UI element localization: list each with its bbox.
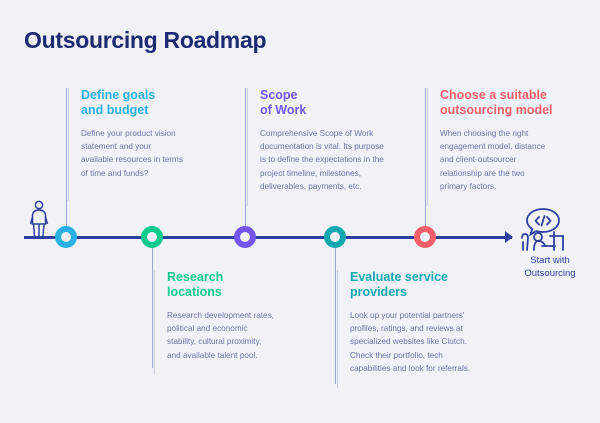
milestone-node-1[interactable] xyxy=(55,226,77,248)
milestone-node-3[interactable] xyxy=(234,226,256,248)
milestone-title-2: Research locations xyxy=(167,270,316,300)
timeline-axis xyxy=(24,236,512,239)
milestone-block-5: Choose a suitable outsourcing model When… xyxy=(427,88,587,206)
milestone-node-4[interactable] xyxy=(324,226,346,248)
milestone-body-1: Define your product vision statement and… xyxy=(81,127,228,180)
milestone-body-5: When choosing the right engagement model… xyxy=(440,127,587,193)
milestone-block-1: Define goals and budget Define your prod… xyxy=(68,88,228,201)
connector-4 xyxy=(335,238,336,384)
connector-5 xyxy=(425,88,426,236)
milestone-title-1: Define goals and budget xyxy=(81,88,228,118)
milestone-body-4: Look up your potential partners' profile… xyxy=(350,309,509,375)
milestone-block-4: Evaluate service providers Look up your … xyxy=(337,270,509,388)
milestone-title-5: Choose a suitable outsourcing model xyxy=(440,88,587,118)
milestone-title-4: Evaluate service providers xyxy=(350,270,509,300)
milestone-body-3: Comprehensive Scope of Work documentatio… xyxy=(260,127,415,193)
milestone-block-3: Scope of Work Comprehensive Scope of Wor… xyxy=(247,88,415,206)
endpoint-label: Start with Outsourcing xyxy=(500,255,600,280)
page-title: Outsourcing Roadmap xyxy=(24,27,266,54)
connector-1 xyxy=(66,88,67,236)
milestone-node-2[interactable] xyxy=(141,226,163,248)
timeline-arrow-icon xyxy=(505,231,513,243)
milestone-block-2: Research locations Research development … xyxy=(154,270,316,375)
developer-code-icon xyxy=(516,206,578,257)
connector-2 xyxy=(152,238,153,368)
milestone-body-2: Research development rates, political an… xyxy=(167,309,316,362)
standing-person-icon xyxy=(26,200,52,243)
milestone-node-5[interactable] xyxy=(414,226,436,248)
milestone-title-3: Scope of Work xyxy=(260,88,415,118)
connector-3 xyxy=(245,88,246,236)
